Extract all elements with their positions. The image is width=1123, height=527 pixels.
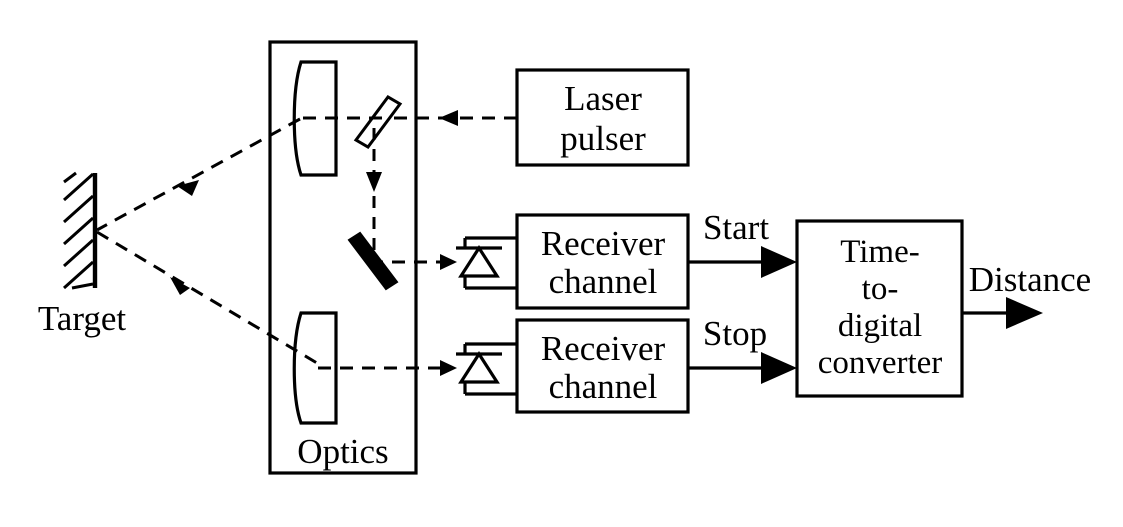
stop-signal-arrowhead <box>761 352 797 384</box>
start-label: Start <box>703 208 769 247</box>
stop-label: Stop <box>703 314 767 353</box>
tdc-label-line4: converter <box>818 345 943 381</box>
laser-pulser-label-line2: pulser <box>560 119 646 158</box>
distance-output-arrowhead <box>1006 297 1043 329</box>
tdc-label-line1: Time- <box>840 234 919 270</box>
tdc-label-line2: to- <box>862 271 899 307</box>
transmitted-beam-arrowhead <box>177 180 199 196</box>
receiver2-label-line1: Receiver <box>541 329 666 368</box>
laser-pulser-label-line1: Laser <box>564 79 642 118</box>
receiver1-label-line1: Receiver <box>541 224 666 263</box>
photodiode-stop <box>456 344 517 394</box>
start-signal-arrowhead <box>761 246 797 278</box>
distance-label: Distance <box>969 260 1091 299</box>
tdc-label-line3: digital <box>838 308 922 344</box>
target-surface <box>64 173 95 288</box>
start-photodiode-arrowhead <box>440 254 457 270</box>
stop-photodiode-arrowhead <box>440 360 457 376</box>
optics-label: Optics <box>297 432 388 471</box>
photodiode-start <box>456 238 517 288</box>
laser-beam-arrowhead <box>439 110 458 126</box>
laser-rangefinder-diagram: Target Optics <box>0 0 1123 527</box>
receiver2-label-line2: channel <box>549 367 658 406</box>
receiver1-label-line2: channel <box>549 262 658 301</box>
target-label: Target <box>38 299 127 338</box>
